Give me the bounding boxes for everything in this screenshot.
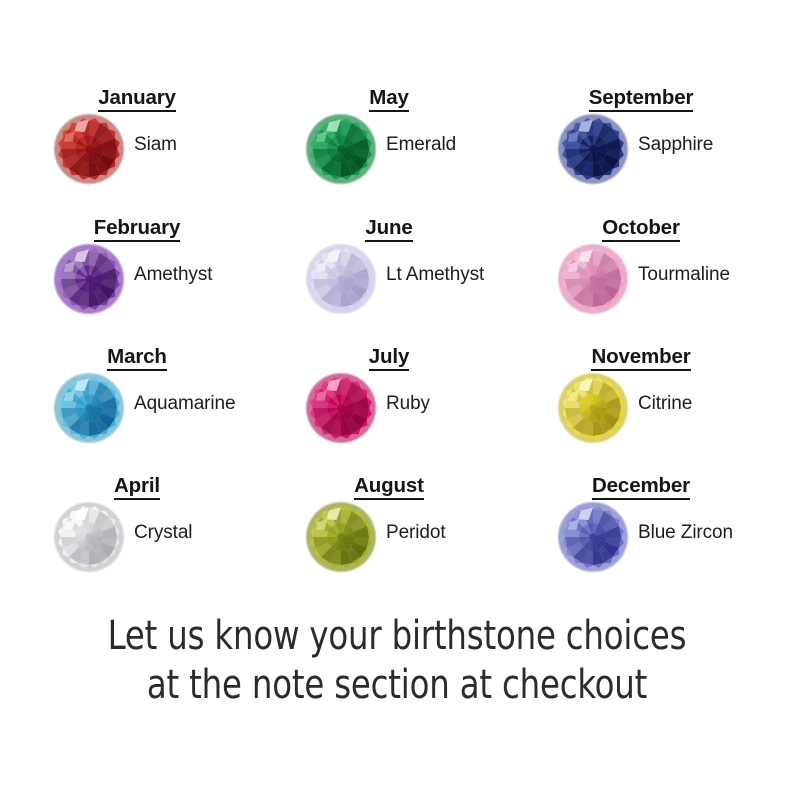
- sapphire-gem-icon: [556, 112, 630, 186]
- citrine-gem-icon: [556, 371, 630, 445]
- month-label: June: [270, 216, 508, 240]
- stone-name-label: Aquamarine: [134, 393, 235, 415]
- month-label: August: [270, 474, 508, 498]
- birthstone-cell-june[interactable]: June Lt Amethyst: [270, 206, 522, 336]
- peridot-gem-icon: [304, 500, 378, 574]
- stone-name-label: Tourmaline: [638, 264, 730, 286]
- birthstone-cell-january[interactable]: January Siam: [18, 76, 270, 206]
- caption-line-1: Let us know your birthstone choices: [40, 612, 755, 661]
- stone-name-label: Sapphire: [638, 134, 713, 156]
- month-label: February: [18, 216, 256, 240]
- birthstone-cell-november[interactable]: November Citrine: [522, 335, 774, 465]
- crystal-gem-icon: [52, 500, 126, 574]
- blue-zircon-gem-icon: [556, 500, 630, 574]
- stone-name-label: Peridot: [386, 522, 446, 544]
- lt-amethyst-gem-icon: [304, 242, 378, 316]
- birthstone-cell-july[interactable]: July Ruby: [270, 335, 522, 465]
- stone-name-label: Lt Amethyst: [386, 264, 484, 286]
- month-label: March: [18, 345, 256, 369]
- stone-name-label: Amethyst: [134, 264, 212, 286]
- month-label: January: [18, 86, 256, 110]
- birthstone-cell-october[interactable]: October Tourmaline: [522, 206, 774, 336]
- birthstone-cell-march[interactable]: March Aquamarine: [18, 335, 270, 465]
- month-label: July: [270, 345, 508, 369]
- ruby-gem-icon: [304, 371, 378, 445]
- month-label: September: [522, 86, 760, 110]
- birthstone-cell-august[interactable]: August Peridot: [270, 464, 522, 594]
- month-label: April: [18, 474, 256, 498]
- birthstone-cell-may[interactable]: May Emerald: [270, 76, 522, 206]
- stone-name-label: Crystal: [134, 522, 192, 544]
- stone-name-label: Blue Zircon: [638, 522, 733, 544]
- stone-name-label: Siam: [134, 134, 177, 156]
- caption-line-2: at the note section at checkout: [40, 661, 755, 710]
- amethyst-gem-icon: [52, 242, 126, 316]
- stone-name-label: Citrine: [638, 393, 692, 415]
- tourmaline-gem-icon: [556, 242, 630, 316]
- birthstone-cell-december[interactable]: December Blue Zircon: [522, 464, 774, 594]
- emerald-gem-icon: [304, 112, 378, 186]
- birthstone-chart-page: January Siam February Amethyst March Aqu…: [0, 0, 794, 794]
- aquamarine-gem-icon: [52, 371, 126, 445]
- birthstone-cell-april[interactable]: April Crystal: [18, 464, 270, 594]
- stone-name-label: Emerald: [386, 134, 456, 156]
- birthstone-cell-february[interactable]: February Amethyst: [18, 206, 270, 336]
- siam-gem-icon: [52, 112, 126, 186]
- month-label: November: [522, 345, 760, 369]
- month-label: December: [522, 474, 760, 498]
- checkout-note-caption: Let us know your birthstone choices at t…: [40, 612, 755, 710]
- birthstone-cell-september[interactable]: September Sapphire: [522, 76, 774, 206]
- month-label: October: [522, 216, 760, 240]
- stone-name-label: Ruby: [386, 393, 430, 415]
- month-label: May: [270, 86, 508, 110]
- birthstone-grid: January Siam February Amethyst March Aqu…: [0, 76, 794, 596]
